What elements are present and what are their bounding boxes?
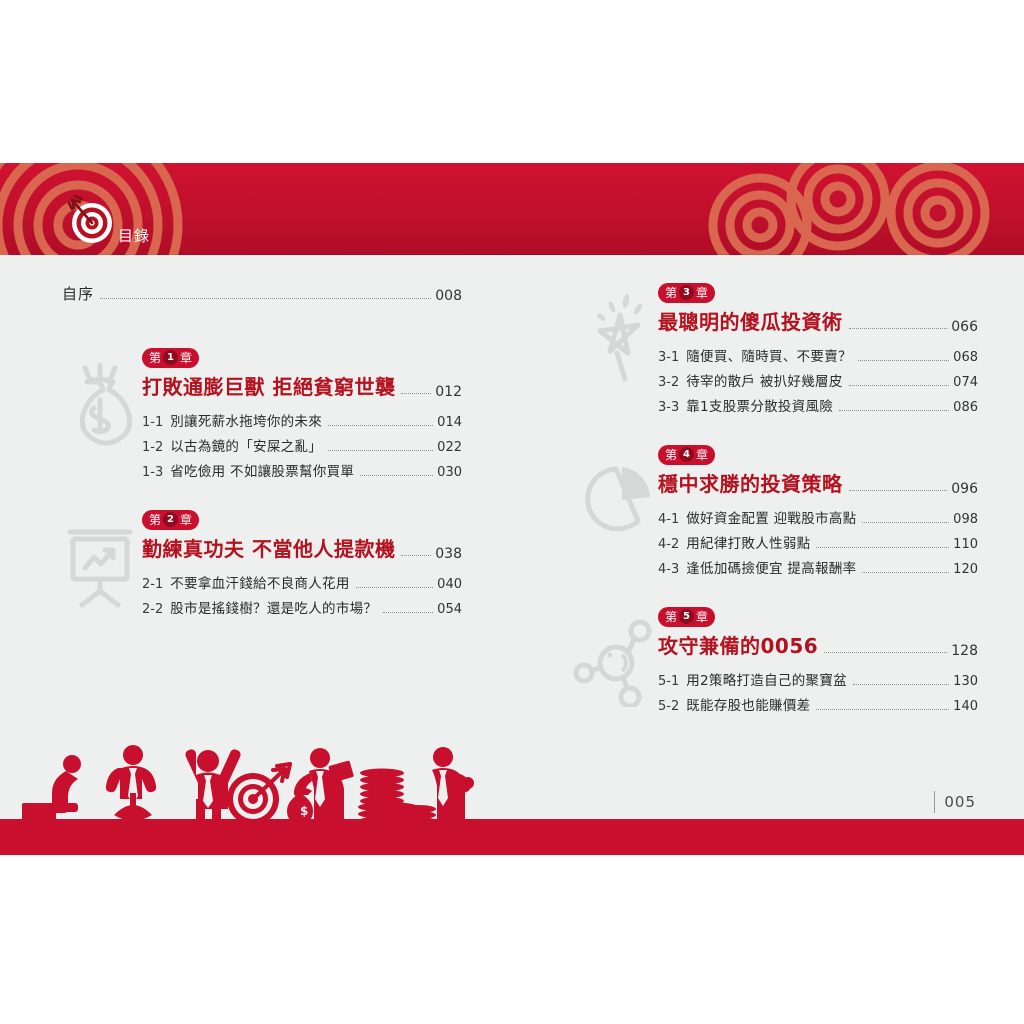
chapter-block: 第1章打敗通膨巨獸 拒絕貧窮世襲0121-1別讓死薪水拖垮你的未來0141-2以… <box>62 348 462 480</box>
section-page: 040 <box>437 577 462 592</box>
dot-leader <box>862 522 949 523</box>
section-number: 1-3 <box>142 465 163 480</box>
chapter-title: 穩中求勝的投資策略 <box>658 468 843 497</box>
section-page: 130 <box>953 674 978 689</box>
chapter-badge: 第5章 <box>658 607 715 627</box>
section-row[interactable]: 1-2以古為鏡的「安屎之亂」022 <box>142 435 462 455</box>
section-row[interactable]: 5-1用2策略打造自己的聚寶盆130 <box>658 669 978 689</box>
dot-leader <box>328 425 433 426</box>
chapter-title: 勤練真功夫 不當他人提款機 <box>142 533 395 562</box>
section-row[interactable]: 1-3省吃儉用 不如讓股票幫你買單030 <box>142 460 462 480</box>
dot-leader <box>858 360 949 361</box>
chapter-title: 打敗通膨巨獸 拒絕貧窮世襲 <box>142 371 395 400</box>
dot-leader <box>383 612 433 613</box>
section-label: 用2策略打造自己的聚寶盆 <box>686 669 847 689</box>
section-label: 待宰的散戶 被扒好幾層皮 <box>686 370 842 390</box>
chapter-page: 038 <box>435 546 462 562</box>
chapter-title-row[interactable]: 勤練真功夫 不當他人提款機038 <box>142 533 462 562</box>
section-label: 靠1支股票分散投資風險 <box>686 395 833 415</box>
chapter-list-right: 第3章最聰明的傻瓜投資術0663-1隨便買、隨時買、不要賣？0683-2待宰的散… <box>578 283 978 714</box>
chapter-badge-suffix: 章 <box>696 287 708 299</box>
section-page: 140 <box>953 699 978 714</box>
section-page: 068 <box>953 350 978 365</box>
chapter-title-row[interactable]: 穩中求勝的投資策略096 <box>658 468 978 497</box>
chapter-badge-number: 5 <box>679 609 694 624</box>
section-row[interactable]: 4-1做好資金配置 迎戰股市高點098 <box>658 507 978 527</box>
page-title: 目錄 <box>118 225 150 246</box>
section-label: 省吃儉用 不如讓股票幫你買單 <box>170 460 354 480</box>
section-label: 股市是搖錢樹？還是吃人的市場？ <box>170 597 377 617</box>
section-number: 4-3 <box>658 562 679 577</box>
section-row[interactable]: 5-2既能存股也能賺價差140 <box>658 694 978 714</box>
dot-leader <box>360 475 433 476</box>
section-page: 086 <box>953 400 978 415</box>
section-page: 030 <box>437 465 462 480</box>
section-row[interactable]: 3-2待宰的散戶 被扒好幾層皮074 <box>658 370 978 390</box>
chapter-title-row[interactable]: 攻守兼備的0056128 <box>658 630 978 659</box>
page-number-divider <box>934 791 935 813</box>
chapter-badge: 第4章 <box>658 445 715 465</box>
dot-leader <box>401 555 431 556</box>
section-row[interactable]: 3-3靠1支股票分散投資風險086 <box>658 395 978 415</box>
dot-leader <box>839 410 949 411</box>
section-row[interactable]: 4-3逢低加碼撿便宜 提高報酬率120 <box>658 557 978 577</box>
money-bag-icon <box>54 356 146 448</box>
chapter-page: 096 <box>951 481 978 497</box>
chapter-badge-number: 1 <box>163 350 178 365</box>
chapter-title: 攻守兼備的0056 <box>658 630 818 659</box>
figure-cheering <box>185 749 290 825</box>
chapter-badge-prefix: 第 <box>149 514 161 526</box>
footer-band <box>0 819 1024 855</box>
figure-coins <box>358 747 474 825</box>
figure-despair <box>22 755 81 825</box>
page-header: 目錄 <box>0 163 1024 255</box>
dot-leader <box>356 587 434 588</box>
chapter-page: 066 <box>951 319 978 335</box>
toc-column-right: 第3章最聰明的傻瓜投資術0663-1隨便買、隨時買、不要賣？0683-2待宰的散… <box>578 283 978 744</box>
chapter-title-row[interactable]: 最聰明的傻瓜投資術066 <box>658 306 978 335</box>
section-row[interactable]: 3-1隨便買、隨時買、不要賣？068 <box>658 345 978 365</box>
chapter-badge-prefix: 第 <box>665 449 677 461</box>
chapter-badge-prefix: 第 <box>665 287 677 299</box>
page-number: 005 <box>934 791 976 813</box>
section-label: 逢低加碼撿便宜 提高報酬率 <box>686 557 856 577</box>
chapter-badge-number: 4 <box>679 447 694 462</box>
dot-leader <box>849 385 950 386</box>
header-shadow <box>0 254 1024 255</box>
section-list: 1-1別讓死薪水拖垮你的未來0141-2以古為鏡的「安屎之亂」0221-3省吃儉… <box>142 410 462 480</box>
magic-star-wand-icon <box>570 291 662 383</box>
chapter-block: 第5章攻守兼備的00561285-1用2策略打造自己的聚寶盆1305-2既能存股… <box>578 607 978 714</box>
toc-column-left: 自序 008 第1章打敗通膨巨獸 拒絕貧窮世襲0121-1別讓死薪水拖垮你的未來… <box>62 283 462 647</box>
section-label: 別讓死薪水拖垮你的未來 <box>170 410 322 430</box>
section-label: 隨便買、隨時買、不要賣？ <box>686 345 852 365</box>
chapter-page: 012 <box>435 384 462 400</box>
page-number-value: 005 <box>944 793 976 811</box>
section-row[interactable]: 1-1別讓死薪水拖垮你的未來014 <box>142 410 462 430</box>
section-page: 110 <box>953 537 978 552</box>
section-page: 014 <box>437 415 462 430</box>
chapter-badge-suffix: 章 <box>180 514 192 526</box>
chart-board-icon <box>54 518 146 610</box>
chapter-block: 第3章最聰明的傻瓜投資術0663-1隨便買、隨時買、不要賣？0683-2待宰的散… <box>578 283 978 415</box>
section-page: 120 <box>953 562 978 577</box>
chapter-badge-suffix: 章 <box>180 352 192 364</box>
section-label: 做好資金配置 迎戰股市高點 <box>686 507 856 527</box>
section-label: 以古為鏡的「安屎之亂」 <box>170 435 322 455</box>
section-list: 2-1不要拿血汗錢給不良商人花用0402-2股市是搖錢樹？還是吃人的市場？054 <box>142 572 462 617</box>
chapter-page: 128 <box>951 643 978 659</box>
section-label: 不要拿血汗錢給不良商人花用 <box>170 572 349 592</box>
chapter-list-left: 第1章打敗通膨巨獸 拒絕貧窮世襲0121-1別讓死薪水拖垮你的未來0141-2以… <box>62 348 462 617</box>
header-ring-pattern <box>0 163 1024 255</box>
section-label: 既能存股也能賺價差 <box>686 694 810 714</box>
chapter-block: 第4章穩中求勝的投資策略0964-1做好資金配置 迎戰股市高點0984-2用紀律… <box>578 445 978 577</box>
figure-moneybag: $ <box>287 748 354 825</box>
chapter-title-row[interactable]: 打敗通膨巨獸 拒絕貧窮世襲012 <box>142 371 462 400</box>
preface-page: 008 <box>435 288 462 304</box>
section-page: 054 <box>437 602 462 617</box>
section-list: 5-1用2策略打造自己的聚寶盆1305-2既能存股也能賺價差140 <box>658 669 978 714</box>
dot-leader <box>100 298 431 299</box>
chapter-badge: 第3章 <box>658 283 715 303</box>
dot-leader <box>816 709 949 710</box>
chapter-badge-number: 2 <box>163 512 178 527</box>
dot-leader <box>853 684 949 685</box>
pie-chart-icon <box>570 453 662 545</box>
toc-row-preface[interactable]: 自序 008 <box>62 283 462 304</box>
figure-standing <box>106 745 156 821</box>
chapter-block: 第2章勤練真功夫 不當他人提款機0382-1不要拿血汗錢給不良商人花用0402-… <box>62 510 462 617</box>
section-row[interactable]: 2-2股市是搖錢樹？還是吃人的市場？054 <box>142 597 462 617</box>
svg-text:$: $ <box>300 804 308 818</box>
dot-leader <box>849 490 948 491</box>
chapter-badge-prefix: 第 <box>665 611 677 623</box>
section-list: 4-1做好資金配置 迎戰股市高點0984-2用紀律打敗人性弱點1104-3逢低加… <box>658 507 978 577</box>
toc-page: 目錄 自序 008 第1章打敗通膨巨獸 拒絕貧窮世襲0121-1別讓死薪水拖垮你… <box>0 163 1024 855</box>
dot-leader <box>401 393 431 394</box>
section-page: 022 <box>437 440 462 455</box>
dot-leader <box>849 328 948 329</box>
chapter-badge-suffix: 章 <box>696 611 708 623</box>
section-number: 3-3 <box>658 400 679 415</box>
dot-leader <box>824 652 947 653</box>
dot-leader <box>862 572 949 573</box>
section-page: 074 <box>953 375 978 390</box>
target-bullseye-icon <box>62 189 120 247</box>
stick-figures-illustration: $ <box>10 733 480 825</box>
section-label: 用紀律打敗人性弱點 <box>686 532 810 552</box>
section-page: 098 <box>953 512 978 527</box>
chapter-title: 最聰明的傻瓜投資術 <box>658 306 843 335</box>
section-row[interactable]: 2-1不要拿血汗錢給不良商人花用040 <box>142 572 462 592</box>
dot-leader <box>816 547 949 548</box>
network-nodes-icon <box>570 615 662 707</box>
chapter-badge-prefix: 第 <box>149 352 161 364</box>
section-list: 3-1隨便買、隨時買、不要賣？0683-2待宰的散戶 被扒好幾層皮0743-3靠… <box>658 345 978 415</box>
chapter-badge: 第2章 <box>142 510 199 530</box>
chapter-badge: 第1章 <box>142 348 199 368</box>
chapter-badge-number: 3 <box>679 285 694 300</box>
section-row[interactable]: 4-2用紀律打敗人性弱點110 <box>658 532 978 552</box>
chapter-badge-suffix: 章 <box>696 449 708 461</box>
dot-leader <box>328 450 433 451</box>
preface-label: 自序 <box>62 283 94 304</box>
